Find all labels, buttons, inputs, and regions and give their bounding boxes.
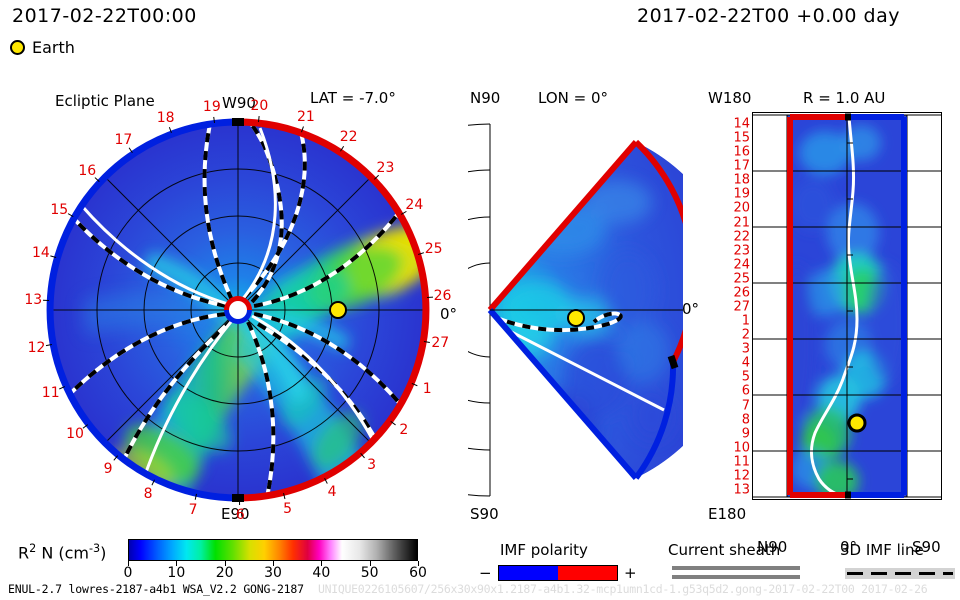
strip-row-18: 18 bbox=[728, 173, 750, 188]
strip-row-17: 17 bbox=[728, 159, 750, 174]
ecliptic-tick-16: 16 bbox=[78, 163, 96, 179]
strip-row-10: 10 bbox=[728, 440, 750, 455]
colorbar-tick-label-10: 10 bbox=[167, 565, 185, 581]
strip-row-27: 27 bbox=[728, 300, 750, 315]
strip-row-11: 11 bbox=[728, 454, 750, 469]
polarity-plus-label: + bbox=[624, 564, 637, 582]
longitude-readout: LON = 0° bbox=[538, 89, 608, 107]
ecliptic-tick-15: 15 bbox=[50, 202, 68, 218]
ecliptic-tick-13: 13 bbox=[24, 292, 42, 308]
ecliptic-panel-title: Ecliptic Plane bbox=[55, 92, 155, 110]
strip-row-15: 15 bbox=[728, 131, 750, 146]
sun-marker bbox=[224, 296, 252, 324]
strip-row-4: 4 bbox=[728, 356, 750, 371]
imf-line-legend-title: 3D IMF line bbox=[840, 541, 924, 559]
strip-row-6: 6 bbox=[728, 384, 750, 399]
ecliptic-tick-26: 26 bbox=[434, 288, 452, 304]
earth-legend: Earth bbox=[10, 38, 75, 57]
strip-row-12: 12 bbox=[728, 468, 750, 483]
strip-density-field bbox=[779, 115, 907, 499]
ecliptic-tick-23: 23 bbox=[377, 160, 395, 176]
polarity-minus-label: − bbox=[479, 564, 492, 582]
ecliptic-plane-plot[interactable]: 2021222324252627123456789101112131415161… bbox=[38, 110, 438, 510]
ecliptic-tick-20: 20 bbox=[251, 98, 269, 114]
colorbar-tick-label-50: 50 bbox=[361, 565, 379, 581]
earth-marker-icon bbox=[10, 40, 25, 55]
meridional-north-label: N90 bbox=[470, 89, 500, 107]
latitude-readout: LAT = -7.0° bbox=[310, 89, 396, 107]
ecliptic-tick-6: 6 bbox=[236, 507, 245, 523]
strip-top-label: W180 bbox=[708, 89, 751, 107]
ecliptic-tick-25: 25 bbox=[425, 241, 443, 257]
strip-row-7: 7 bbox=[728, 398, 750, 413]
colorbar-tick-label-20: 20 bbox=[216, 565, 234, 581]
ecliptic-tick-10: 10 bbox=[66, 426, 84, 442]
strip-row-19: 19 bbox=[728, 187, 750, 202]
earth-marker[interactable] bbox=[330, 302, 346, 318]
strip-row-14: 14 bbox=[728, 117, 750, 132]
colorbar-tick-label-0: 0 bbox=[124, 565, 133, 581]
strip-row-20: 20 bbox=[728, 201, 750, 216]
ecliptic-tick-7: 7 bbox=[189, 502, 198, 518]
meridional-south-label: S90 bbox=[470, 505, 499, 523]
ecliptic-tick-18: 18 bbox=[157, 110, 175, 126]
strip-row-3: 3 bbox=[728, 342, 750, 357]
imf-line-legend-swatch bbox=[845, 568, 955, 579]
strip-row-24: 24 bbox=[728, 257, 750, 272]
colorbar-tick-label-60: 60 bbox=[409, 565, 427, 581]
ecliptic-tick-27: 27 bbox=[431, 335, 449, 351]
ecliptic-tick-3: 3 bbox=[367, 457, 376, 473]
ecliptic-tick-22: 22 bbox=[340, 129, 358, 145]
ecliptic-tick-9: 9 bbox=[104, 461, 113, 477]
strip-radius-title: R = 1.0 AU bbox=[803, 89, 885, 107]
ecliptic-tick-2: 2 bbox=[399, 422, 408, 438]
earth-legend-label: Earth bbox=[32, 38, 75, 57]
earth-marker-strip[interactable] bbox=[849, 415, 865, 431]
model-credit-line: ENUL-2.7 lowres-2187-a4b1 WSA_V2.2 GONG-… bbox=[8, 582, 304, 596]
strip-row-16: 16 bbox=[728, 145, 750, 160]
ecliptic-tick-21: 21 bbox=[297, 109, 315, 125]
ecliptic-tick-19: 19 bbox=[203, 99, 221, 115]
ecliptic-tickmark bbox=[427, 296, 433, 297]
ecliptic-right-label: 0° bbox=[440, 305, 457, 323]
strip-bottom-label: E180 bbox=[708, 505, 746, 523]
strip-row-8: 8 bbox=[728, 412, 750, 427]
ecliptic-tick-1: 1 bbox=[423, 381, 432, 397]
current-sheath-legend-title: Current sheath bbox=[668, 541, 780, 559]
ecliptic-tick-8: 8 bbox=[144, 486, 153, 502]
strip-row-5: 5 bbox=[728, 370, 750, 385]
ecliptic-tick-12: 12 bbox=[28, 340, 46, 356]
ecliptic-tick-24: 24 bbox=[405, 197, 423, 213]
ecliptic-tick-17: 17 bbox=[114, 132, 132, 148]
imf-polarity-legend-title: IMF polarity bbox=[500, 541, 588, 559]
colorbar-label: R2 N (cm-3) bbox=[18, 542, 106, 562]
strip-row-9: 9 bbox=[728, 426, 750, 441]
meridional-svg bbox=[468, 110, 683, 500]
polarity-colorbar bbox=[498, 565, 618, 581]
ecliptic-tickmark bbox=[424, 341, 430, 343]
colorbar-gradient bbox=[128, 539, 418, 561]
strip-row-1: 1 bbox=[728, 314, 750, 329]
strip-row-13: 13 bbox=[728, 482, 750, 497]
lat-lon-strip-plot[interactable]: 1415161718192021222324252627123456789101… bbox=[752, 112, 942, 500]
ecliptic-tick-14: 14 bbox=[32, 245, 50, 261]
meridional-grid bbox=[468, 124, 490, 496]
run-id-watermark: UNIQUE0226105607/256x30x90x1.2187-a4b1.3… bbox=[318, 582, 927, 596]
colorbar-tick-label-30: 30 bbox=[264, 565, 282, 581]
strip-grid bbox=[753, 115, 941, 497]
strip-row-26: 26 bbox=[728, 285, 750, 300]
current-sheath-legend-swatch bbox=[672, 565, 800, 581]
strip-row-21: 21 bbox=[728, 215, 750, 230]
ecliptic-tick-5: 5 bbox=[283, 501, 292, 517]
strip-svg bbox=[753, 113, 941, 499]
meridional-right-label: 0° bbox=[682, 300, 699, 318]
ecliptic-tick-11: 11 bbox=[42, 385, 60, 401]
strip-row-22: 22 bbox=[728, 229, 750, 244]
strip-row-25: 25 bbox=[728, 271, 750, 286]
meridional-slice-plot[interactable] bbox=[468, 110, 683, 500]
colorbar-tick-label-40: 40 bbox=[312, 565, 330, 581]
strip-row-23: 23 bbox=[728, 243, 750, 258]
observation-datetime: 2017-02-22T00:00 bbox=[12, 5, 197, 27]
earth-marker-meridional[interactable] bbox=[568, 310, 584, 326]
forecast-epoch: 2017-02-22T00 +0.00 day bbox=[637, 5, 900, 27]
ecliptic-tick-4: 4 bbox=[328, 484, 337, 500]
strip-row-2: 2 bbox=[728, 328, 750, 343]
